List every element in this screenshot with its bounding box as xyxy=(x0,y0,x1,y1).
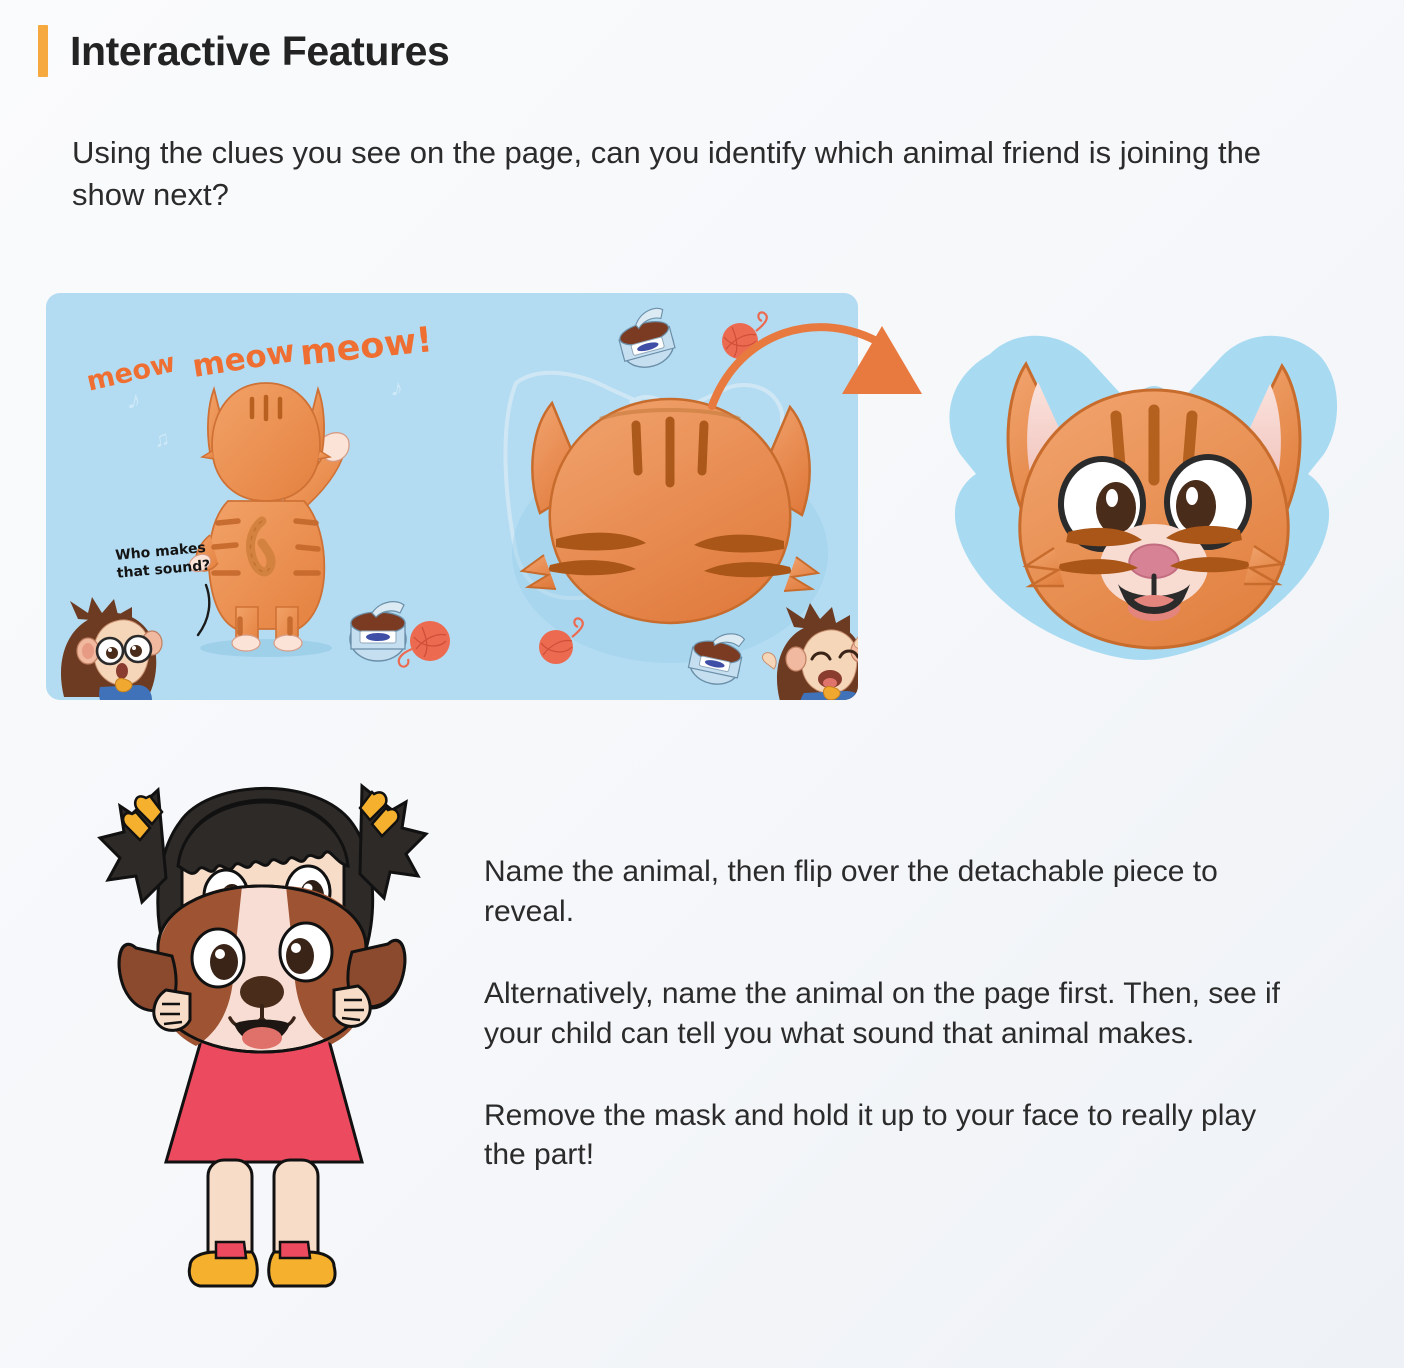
instruction-paragraph-1: Name the animal, then flip over the deta… xyxy=(484,852,1284,932)
cat-food-can-icon-3 xyxy=(676,623,756,693)
page-title: Interactive Features xyxy=(70,28,449,75)
speech-bubble-tail-icon xyxy=(176,583,216,643)
flow-arrow-icon xyxy=(700,296,960,416)
page-root: Interactive Features Using the clues you… xyxy=(0,0,1404,1368)
yarn-ball-icon-3 xyxy=(534,613,594,669)
accent-bar-icon xyxy=(38,25,48,77)
cat-food-can-icon-2 xyxy=(606,305,686,375)
page-header: Interactive Features xyxy=(38,25,449,77)
cat-props-group-1 xyxy=(342,593,457,673)
instruction-paragraph-2: Alternatively, name the animal on the pa… xyxy=(484,974,1284,1054)
cat-mask-illustration[interactable] xyxy=(930,308,1350,683)
sound-word-3: meow! xyxy=(298,320,434,374)
intro-paragraph: Using the clues you see on the page, can… xyxy=(72,132,1262,215)
hedgehog-character-1 xyxy=(48,595,188,700)
instruction-paragraph-3: Remove the mask and hold it up to your f… xyxy=(484,1096,1284,1176)
hedgehog-character-2 xyxy=(760,603,858,700)
girl-with-dog-mask-illustration xyxy=(62,762,462,1322)
instructions-block: Name the animal, then flip over the deta… xyxy=(484,852,1284,1175)
